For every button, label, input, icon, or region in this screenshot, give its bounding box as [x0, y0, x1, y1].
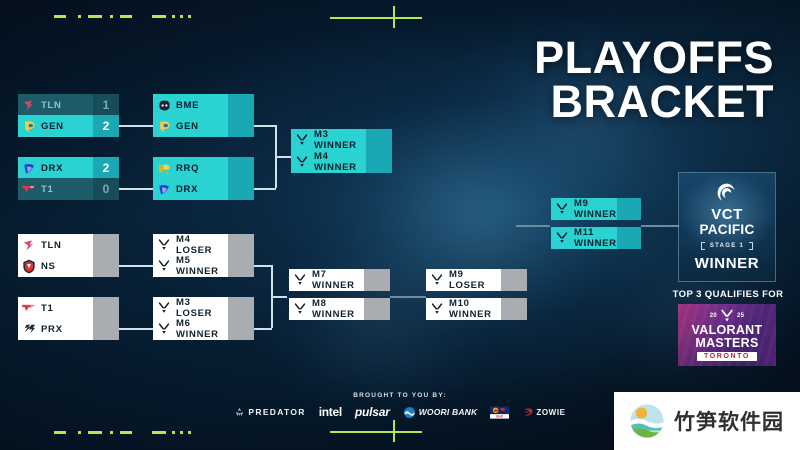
bracket-row-label: M6 WINNER [175, 318, 228, 340]
bracket-row-score [228, 318, 254, 340]
sponsor-label: intel [319, 405, 342, 419]
valorant-masters-panel: 20 25 VALORANT MASTERS TORONTO [678, 304, 776, 366]
bracket-row-score [366, 129, 392, 151]
masters-year-left: 20 [710, 313, 717, 319]
bracket-row-upper-ro4[interactable]: T10 [18, 178, 119, 200]
bracket-row-lower-col1[interactable]: TLN [18, 234, 119, 256]
bme-logo [153, 94, 175, 116]
bracket-row-score [501, 298, 527, 320]
bracket-row-upper-col3[interactable]: M3 WINNER [291, 129, 392, 151]
sponsor-intel: intel [319, 405, 342, 419]
redbull-icon: Bull [490, 406, 509, 419]
bracket-row-label: M8 WINNER [311, 298, 364, 320]
page-title: PLAYOFFS BRACKET [534, 36, 774, 124]
bracket-row-label: NS [40, 255, 93, 277]
bracket-row-lower-col1[interactable]: T1 [18, 297, 119, 319]
woori-icon [403, 406, 416, 419]
bracket-row-upper-ro4[interactable]: TLN1 [18, 94, 119, 116]
vct-pacific-icon [716, 182, 738, 204]
bracket-row-lower-col1[interactable]: NS [18, 255, 119, 277]
bracket-row-score [93, 234, 119, 256]
bracket-row-lower-col4[interactable]: M10 WINNER [426, 298, 527, 320]
valorant-icon [289, 298, 311, 320]
valorant-icon [551, 227, 573, 249]
sponsor-pulsar: pulsar [355, 405, 390, 419]
bracket-row-score [364, 269, 390, 291]
bracket-row-grand-final[interactable]: M11 WINNER [551, 227, 641, 249]
bracket-row-score: 1 [93, 94, 119, 116]
title-line-1: PLAYOFFS [534, 36, 774, 80]
bracket-row-score [228, 94, 254, 116]
bracket-connector [275, 156, 291, 158]
title-line-2: BRACKET [534, 80, 774, 124]
bracket-connector [254, 265, 272, 267]
bracket-row-label: M4 LOSER [175, 234, 228, 256]
svg-text:Bull: Bull [497, 414, 503, 418]
bracket-row-score [366, 151, 392, 173]
bracket-row-upper-ro4[interactable]: DRX2 [18, 157, 119, 179]
bracket-row-score [228, 178, 254, 200]
bracket-row-label: PRX [40, 318, 93, 340]
sponsor-red-bull: Bull [490, 406, 509, 419]
bracket-row-score [501, 269, 527, 291]
valorant-icon [551, 198, 573, 220]
bracket-row-label: M4 WINNER [313, 151, 366, 173]
bamboo-logo [628, 402, 666, 440]
bracket-row-label: T1 [40, 297, 93, 319]
bracket-connector [119, 328, 153, 330]
bracket-row-label: DRX [40, 157, 93, 179]
sponsor-woori-bank: WOORI BANK [403, 406, 478, 419]
bracket-row-score [228, 234, 254, 256]
bracket-row-upper-col2[interactable]: DRX [153, 178, 254, 200]
sponsor-zowie: ZOWIE [522, 407, 565, 418]
valorant-icon [153, 255, 175, 277]
bracket-connector [254, 328, 272, 330]
bracket-row-score [364, 298, 390, 320]
bracket-row-label: M9 WINNER [573, 198, 617, 220]
bracket-row-score: 0 [93, 178, 119, 200]
bracket-row-score [93, 255, 119, 277]
bracket-row-lower-col2[interactable]: M4 LOSER [153, 234, 254, 256]
bracket-row-label: M5 WINNER [175, 255, 228, 277]
bracket-row-label: M3 LOSER [175, 297, 228, 319]
bracket-row-label: TLN [40, 94, 93, 116]
bracket-connector [254, 125, 276, 127]
vct-title-line-2: PACIFIC [699, 223, 754, 237]
vct-stage-label: STAGE 1 [701, 242, 753, 250]
bracket-row-label: RRQ [175, 157, 228, 179]
bracket-row-upper-col2[interactable]: BME [153, 94, 254, 116]
rrq-logo [153, 157, 175, 179]
sponsor-label: pulsar [355, 405, 390, 419]
watermark: 竹笋软件园 [614, 392, 800, 450]
bracket-row-label: GEN [175, 115, 228, 137]
bracket-row-lower-col3[interactable]: M7 WINNER [289, 269, 390, 291]
bracket-connector [271, 296, 287, 298]
tln-logo [18, 94, 40, 116]
bracket-row-lower-col1[interactable]: PRX [18, 318, 119, 340]
bracket-row-score: 2 [93, 157, 119, 179]
valorant-icon [289, 269, 311, 291]
bracket-connector [119, 265, 153, 267]
vct-winner-label: WINNER [695, 255, 759, 272]
bracket-row-lower-col2[interactable]: M3 LOSER [153, 297, 254, 319]
drx-logo [18, 157, 40, 179]
bracket-row-label: GEN [40, 115, 93, 137]
gen-logo [18, 115, 40, 137]
bracket-row-score [93, 297, 119, 319]
bracket-row-score: 2 [93, 115, 119, 137]
valorant-icon [153, 318, 175, 340]
bracket-row-upper-col2[interactable]: GEN [153, 115, 254, 137]
valorant-icon [720, 309, 734, 323]
masters-title-line-2: MASTERS [695, 337, 758, 350]
bracket-row-label: M7 WINNER [311, 269, 364, 291]
bracket-row-score [228, 115, 254, 137]
ns-logo [18, 255, 40, 277]
valorant-icon [153, 297, 175, 319]
bracket-row-grand-final[interactable]: M9 WINNER [551, 198, 641, 220]
t1-logo [18, 297, 40, 319]
vct-pacific-winner-panel: VCT PACIFIC STAGE 1 WINNER [678, 172, 776, 282]
bracket-row-lower-col3[interactable]: M8 WINNER [289, 298, 390, 320]
valorant-icon [426, 269, 448, 291]
prx-logo [18, 318, 40, 340]
sponsor-label: WOORI BANK [419, 407, 478, 417]
bracket-row-score [617, 227, 641, 249]
bracket-connector [119, 188, 153, 190]
qualify-label: TOP 3 QUALIFIES FOR [663, 289, 793, 300]
valorant-icon [426, 298, 448, 320]
bracket-row-label: M3 WINNER [313, 129, 366, 151]
bracket-connector [516, 225, 550, 227]
bracket-row-upper-col3[interactable]: M4 WINNER [291, 151, 392, 173]
bracket-connector [119, 125, 153, 127]
bracket-connector [641, 225, 679, 227]
valorant-icon [291, 129, 313, 151]
bracket-row-score [228, 255, 254, 277]
tln-logo [18, 234, 40, 256]
watermark-text: 竹笋软件园 [674, 406, 784, 436]
vct-title-line-1: VCT [711, 207, 743, 222]
drx-logo [153, 178, 175, 200]
bracket-row-label: M9 LOSER [448, 269, 501, 291]
bracket-row-upper-col2[interactable]: RRQ [153, 157, 254, 179]
bracket-connector [390, 296, 426, 298]
t1-logo [18, 178, 40, 200]
bracket-row-label: M11 WINNER [573, 227, 617, 249]
bracket-row-label: M10 WINNER [448, 298, 501, 320]
valorant-icon [291, 151, 313, 173]
gen-logo [153, 115, 175, 137]
bracket-row-lower-col2[interactable]: M5 WINNER [153, 255, 254, 277]
masters-year-right: 25 [737, 313, 744, 319]
bracket-row-score [93, 318, 119, 340]
bracket-row-score [228, 297, 254, 319]
masters-city: TORONTO [697, 352, 757, 361]
bracket-row-lower-col4[interactable]: M9 LOSER [426, 269, 527, 291]
zowie-icon [522, 407, 533, 418]
valorant-icon [153, 234, 175, 256]
sponsor-label: PREDATOR [248, 407, 305, 417]
bracket-row-score [617, 198, 641, 220]
bracket-connector [254, 188, 276, 190]
bracket-row-upper-ro4[interactable]: GEN2 [18, 115, 119, 137]
sponsor-predator: PREDATOR [234, 407, 305, 418]
sponsor-label: ZOWIE [536, 408, 565, 417]
bracket-row-label: T1 [40, 178, 93, 200]
bracket-row-lower-col2[interactable]: M6 WINNER [153, 318, 254, 340]
bracket-row-label: DRX [175, 178, 228, 200]
bracket-row-label: BME [175, 94, 228, 116]
bracket-row-score [228, 157, 254, 179]
predator-icon [234, 407, 245, 418]
bracket-row-label: TLN [40, 234, 93, 256]
